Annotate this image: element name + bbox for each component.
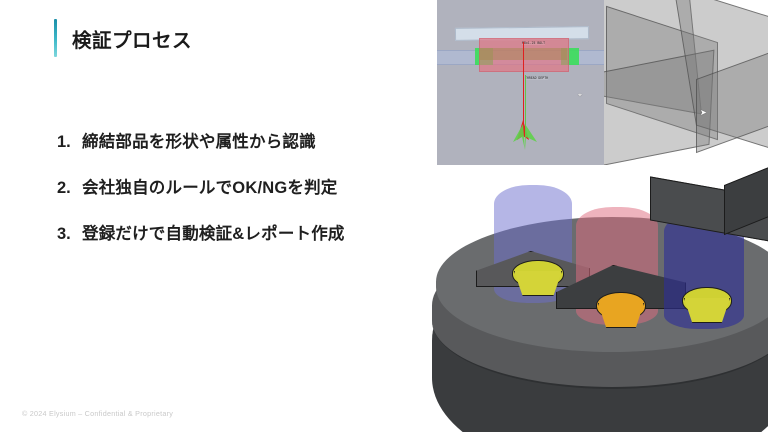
list-item-number: 1. xyxy=(57,133,82,152)
list-item: 1. 締結部品を形状や属性から認識 xyxy=(57,128,417,152)
list-item-label: 会社独自のルールでOK/NGを判定 xyxy=(82,174,337,198)
numbered-list: 1. 締結部品を形状や属性から認識 2. 会社独自のルールでOK/NGを判定 3… xyxy=(57,128,417,266)
footer-copyright: © 2024 Elysium – Confidential & Propriet… xyxy=(22,409,173,418)
list-item: 3. 登録だけで自動検証&レポート作成 xyxy=(57,220,417,244)
cursor-icon: ⌖ xyxy=(578,92,582,100)
cursor-pointer-icon: ➤ xyxy=(700,108,707,117)
list-item: 2. 会社独自のルールでOK/NGを判定 xyxy=(57,174,417,198)
title-block: 検証プロセス xyxy=(54,18,192,58)
page-title: 検証プロセス xyxy=(72,24,192,53)
list-item-number: 3. xyxy=(57,225,82,244)
annotation-label-1: M8x1.25 BOLT xyxy=(522,42,545,45)
annotation-label-2: THREAD DEPTH xyxy=(525,77,548,80)
list-item-label: 締結部品を形状や属性から認識 xyxy=(82,128,316,152)
cad-screenshot-bottom xyxy=(424,165,768,432)
list-item-number: 2. xyxy=(57,179,82,198)
slide-canvas: 検証プロセス 1. 締結部品を形状や属性から認識 2. 会社独自のルールでOK/… xyxy=(0,0,768,432)
cad-screenshot-top: M8x1.25 BOLT THREAD DEPTH ⌖ ➤ xyxy=(437,0,768,165)
list-item-label: 登録だけで自動検証&レポート作成 xyxy=(82,220,345,244)
title-accent-bar xyxy=(54,19,57,57)
cad-viewport-panel: M8x1.25 BOLT THREAD DEPTH ⌖ xyxy=(437,0,604,165)
direction-arrows-icon xyxy=(505,120,547,154)
cad-geometry-right: ➤ xyxy=(604,0,768,165)
